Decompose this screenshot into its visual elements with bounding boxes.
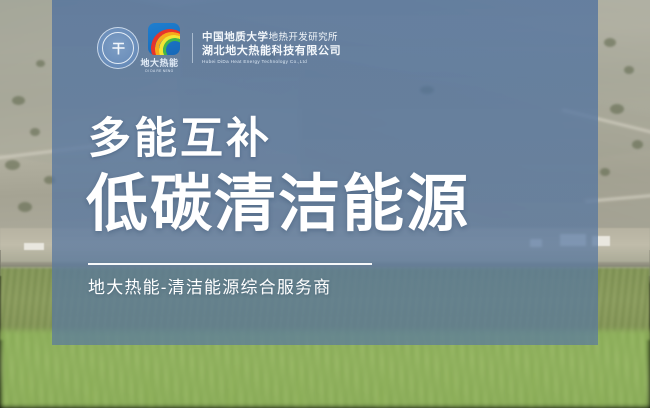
brand-header: 干 地大热能 DI DA RE NENG 中国地质大学地热开发研究所 湖北地大热…	[97, 26, 341, 70]
grass-blade	[142, 356, 153, 408]
organization-names: 中国地质大学地热开发研究所 湖北地大热能科技有限公司 Hubei DiDa He…	[202, 32, 341, 64]
grass-blade	[445, 359, 457, 408]
shrub	[610, 104, 624, 114]
tagline: 地大热能-清洁能源综合服务商	[88, 279, 331, 296]
headline-primary: 低碳清洁能源	[86, 174, 470, 236]
shrub	[624, 66, 634, 74]
shrub	[36, 60, 45, 67]
headline-secondary: 多能互补	[88, 118, 272, 161]
company-logo: 地大热能 DI DA RE NENG	[139, 23, 180, 73]
company-logo-en: DI DA RE NENG	[145, 69, 173, 73]
university-seal-glyph: 干	[112, 42, 124, 55]
rainbow-arc-logo-icon	[148, 23, 180, 55]
grass-blade	[294, 352, 303, 408]
institute-line: 中国地质大学地热开发研究所	[202, 32, 341, 44]
grass-blade	[592, 354, 602, 408]
shrub	[604, 38, 616, 47]
building	[24, 243, 44, 250]
university-name: 中国地质大学	[202, 31, 269, 43]
shrub	[30, 128, 40, 136]
header-divider	[192, 33, 193, 63]
company-logo-cn: 地大热能	[140, 56, 178, 69]
shrub	[5, 160, 20, 170]
company-name-en: Hubei DiDa Heat Energy Technology Co.,Lt…	[202, 59, 341, 64]
grass-blade	[380, 344, 392, 408]
grass-blade	[530, 340, 540, 408]
institute-name: 地热开发研究所	[269, 32, 338, 43]
headline-rule	[88, 263, 372, 265]
grass-blade	[88, 342, 99, 408]
shrub	[18, 202, 32, 212]
shrub	[600, 168, 610, 176]
university-seal-icon: 干	[97, 27, 139, 69]
company-name-cn: 湖北地大热能科技有限公司	[202, 45, 341, 57]
grass-blade	[228, 339, 243, 408]
shrub	[632, 140, 643, 149]
grass-blade	[18, 351, 33, 408]
shrub	[12, 96, 25, 105]
promo-banner: 干 地大热能 DI DA RE NENG 中国地质大学地热开发研究所 湖北地大热…	[0, 0, 650, 408]
